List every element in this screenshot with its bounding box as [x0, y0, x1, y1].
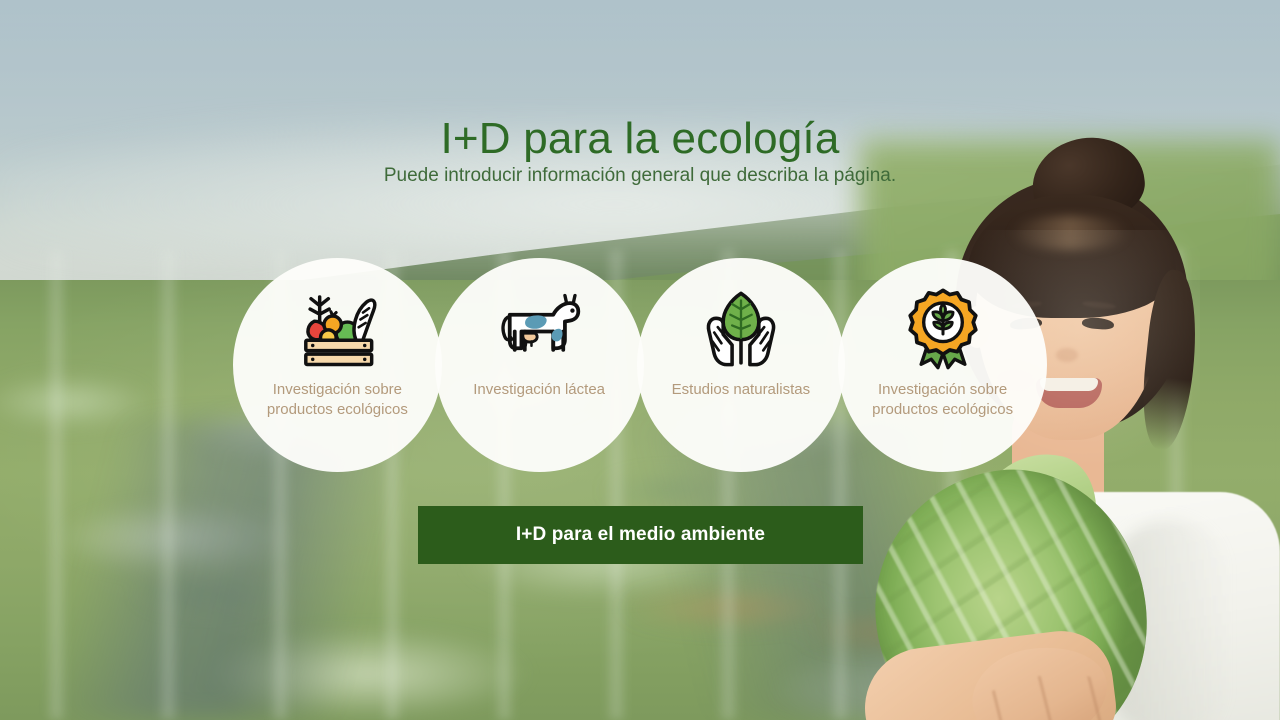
- feature-label: Investigación sobre productos ecológicos: [855, 380, 1030, 420]
- feature-circle-dairy-research[interactable]: Investigación láctea: [435, 258, 644, 472]
- page-subtitle: Puede introducir información general que…: [0, 164, 1280, 189]
- page-title: I+D para la ecología: [0, 115, 1280, 163]
- eco-award-badge-icon: [897, 290, 989, 368]
- feature-circle-list: Investigación sobre productos ecológicos: [233, 258, 1047, 472]
- landing-hero-page: I+D para la ecología Puede introducir in…: [0, 0, 1280, 720]
- feature-circle-organic-certification[interactable]: Investigación sobre productos ecológicos: [838, 258, 1047, 472]
- feature-circle-organic-products[interactable]: Investigación sobre productos ecológicos: [233, 258, 442, 472]
- feature-label: Investigación láctea: [452, 380, 627, 400]
- feature-label: Estudios naturalistas: [653, 380, 828, 400]
- feature-label: Investigación sobre productos ecológicos: [250, 380, 425, 420]
- cta-button-wrapper: I+D para el medio ambiente: [418, 506, 863, 564]
- feature-circle-naturalist-studies[interactable]: Estudios naturalistas: [637, 258, 846, 472]
- hands-holding-leaf-icon: [695, 290, 787, 368]
- cow-icon: [493, 290, 585, 368]
- vegetable-crate-icon: [291, 290, 383, 368]
- cta-button-environment-rd[interactable]: I+D para el medio ambiente: [418, 506, 863, 564]
- hero-content: I+D para la ecología Puede introducir in…: [0, 0, 1280, 720]
